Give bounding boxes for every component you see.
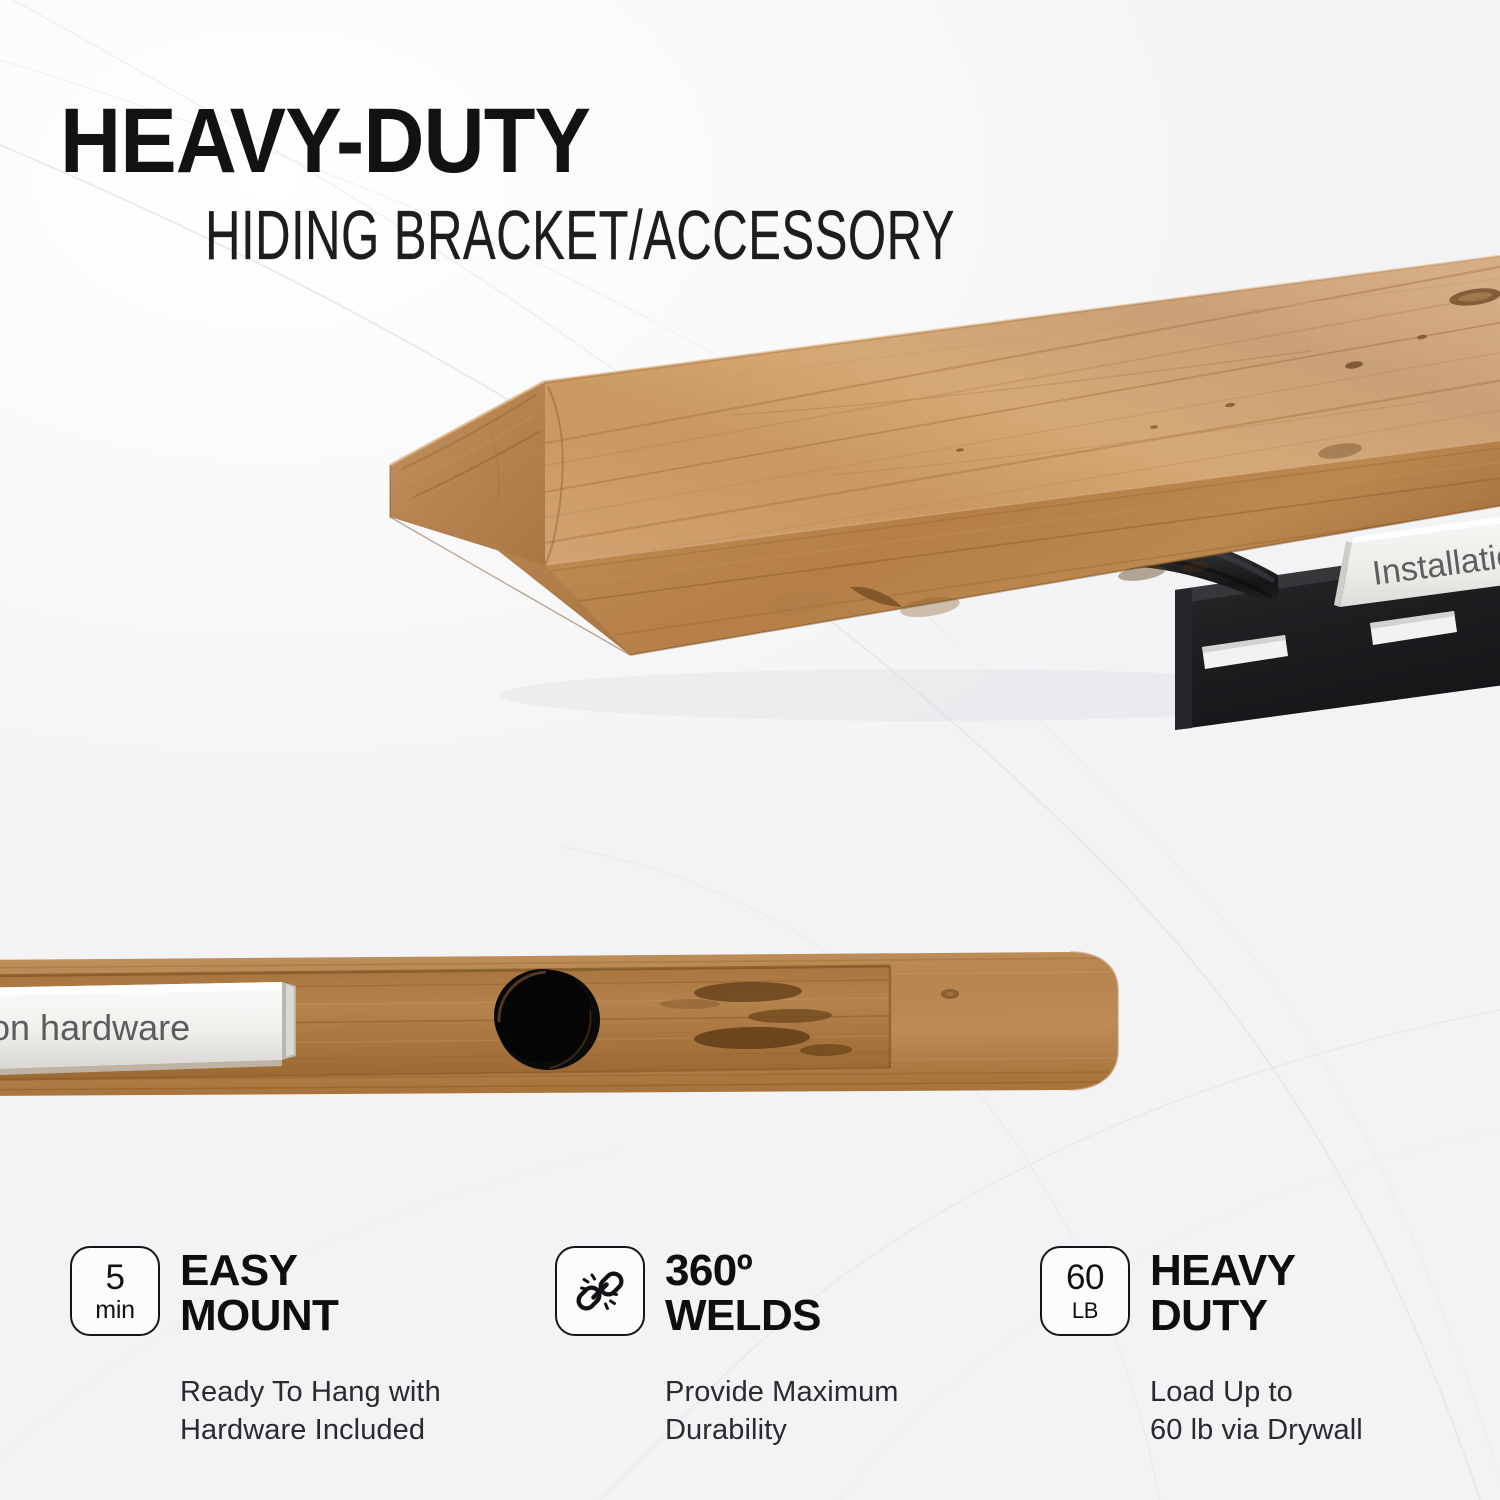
badge-number: 5: [106, 1260, 125, 1295]
installation-label-text-bottom: ion hardware: [0, 1007, 190, 1048]
feature-title: 360º WELDS: [665, 1248, 899, 1339]
chain-link-weld-icon: [557, 1248, 643, 1334]
five-minute-badge: 5 min: [70, 1246, 160, 1336]
feature-text: HEAVY DUTY Load Up to 60 lb via Drywall: [1150, 1246, 1363, 1449]
badge-unit: LB: [1072, 1300, 1098, 1322]
page-title: HEAVY-DUTY: [60, 96, 1072, 186]
feature-text: EASY MOUNT Ready To Hang with Hardware I…: [180, 1246, 441, 1449]
feature-360-welds: 360º WELDS Provide Maximum Durability: [555, 1246, 1040, 1449]
feature-heavy-duty: 60 LB HEAVY DUTY Load Up to 60 lb via Dr…: [1040, 1246, 1460, 1449]
badge-number: 60: [1066, 1260, 1104, 1295]
product-photo-shelf-with-bracket: Installation: [330, 255, 1500, 795]
badge-unit: min: [95, 1298, 134, 1323]
sixty-pound-badge: 60 LB: [1040, 1246, 1130, 1336]
feature-title: HEAVY DUTY: [1150, 1248, 1363, 1339]
feature-description: Ready To Hang with Hardware Included: [180, 1373, 441, 1450]
feature-text: 360º WELDS Provide Maximum Durability: [665, 1246, 899, 1449]
feature-description: Load Up to 60 lb via Drywall: [1150, 1373, 1363, 1450]
feature-row: 5 min EASY MOUNT Ready To Hang with Hard…: [70, 1246, 1460, 1449]
feature-description: Provide Maximum Durability: [665, 1373, 899, 1450]
headline-block: HEAVY-DUTY HIDING BRACKET/ACCESSORY: [60, 96, 1160, 266]
product-photo-shelf-underside: ion hardware: [0, 930, 1135, 1130]
feature-title: EASY MOUNT: [180, 1248, 441, 1339]
installation-hardware-box-bottom: ion hardware: [0, 982, 296, 1076]
feature-easy-mount: 5 min EASY MOUNT Ready To Hang with Hard…: [70, 1246, 555, 1449]
product-marketing-image: HEAVY-DUTY HIDING BRACKET/ACCESSORY: [0, 0, 1500, 1500]
weld-badge: [555, 1246, 645, 1336]
